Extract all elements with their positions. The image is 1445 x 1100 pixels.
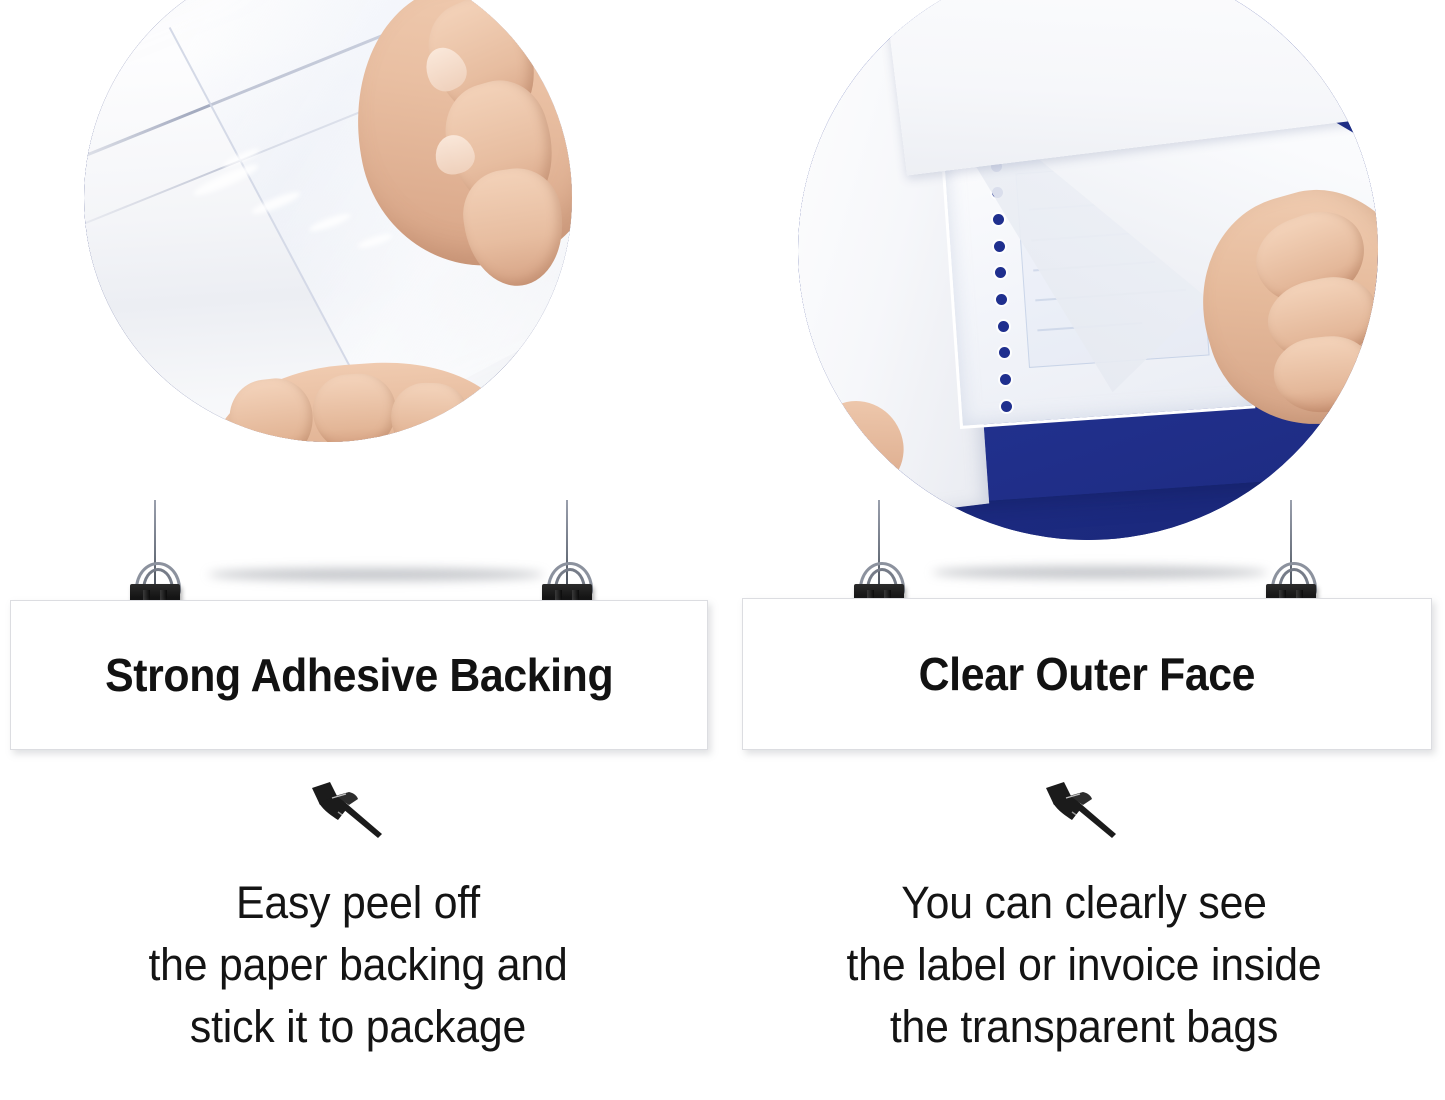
- banner-clear-outer-face: Clear Outer Face: [742, 598, 1432, 750]
- caption-left: Easy peel off the paper backing and stic…: [10, 872, 706, 1058]
- pointing-hand-icon: [308, 782, 392, 842]
- caption-line: Easy peel off: [27, 872, 688, 934]
- caption-line: the label or invoice inside: [752, 934, 1417, 996]
- infographic-page: Strong Adhesive Backing Easy peel off th…: [0, 0, 1445, 1100]
- perforation-dot: [1001, 401, 1012, 412]
- caption-line: the transparent bags: [752, 996, 1417, 1058]
- caption-line: the paper backing and: [27, 934, 688, 996]
- banner-strong-adhesive-backing: Strong Adhesive Backing: [10, 600, 708, 750]
- banner-label: Clear Outer Face: [919, 647, 1255, 701]
- caption-line: stick it to package: [27, 996, 688, 1058]
- banner-label: Strong Adhesive Backing: [105, 648, 613, 702]
- perforation-dot: [994, 241, 1005, 252]
- perforation-dot: [993, 214, 1004, 225]
- clear-outer-face-photo: [798, 0, 1378, 540]
- caption-line: You can clearly see: [752, 872, 1417, 934]
- perforation-dot: [998, 321, 1009, 332]
- banner-drop-smear: [208, 568, 544, 581]
- banner-drop-smear: [932, 566, 1268, 579]
- perforation-dot: [1000, 374, 1011, 385]
- adhesive-backing-photo: [84, 0, 572, 442]
- pointing-hand-icon: [1042, 782, 1126, 842]
- caption-right: You can clearly see the label or invoice…: [734, 872, 1434, 1058]
